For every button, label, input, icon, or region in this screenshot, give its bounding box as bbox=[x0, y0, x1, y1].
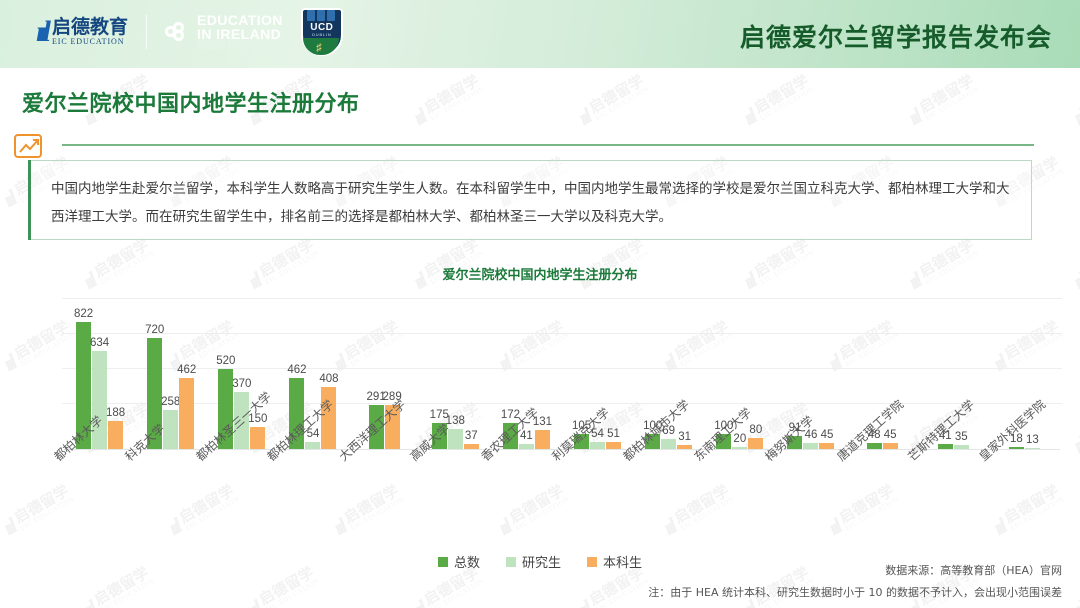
bar: 462 bbox=[179, 378, 194, 450]
bar: 634 bbox=[92, 351, 107, 450]
x-axis-label-cell: 大西洋理工大学 bbox=[335, 452, 405, 470]
legend-item[interactable]: 研究生 bbox=[506, 552, 561, 571]
header-title: 启德爱尔兰留学报告发布会 bbox=[740, 18, 1052, 54]
bar-value-label: 408 bbox=[319, 373, 338, 385]
bar-value-label: 634 bbox=[90, 337, 109, 349]
bar-value-label: 80 bbox=[749, 424, 762, 436]
bar: 188 bbox=[108, 421, 123, 450]
eic-logo-mark-icon: ııl bbox=[36, 15, 46, 49]
title-divider bbox=[62, 144, 1034, 146]
page-title: 爱尔兰院校中国内地学生注册分布 bbox=[22, 86, 360, 118]
x-axis-label-cell: 皇家外科医学院 bbox=[975, 452, 1045, 470]
bar-groups: 8226341887202584625203701504625440829128… bbox=[64, 302, 1060, 450]
watermark: ııl启德留学EIC EDUCATION bbox=[904, 71, 982, 131]
bar: 150 bbox=[250, 427, 265, 450]
legend-label: 研究生 bbox=[522, 552, 561, 571]
legend-item[interactable]: 本科生 bbox=[587, 552, 642, 571]
legend-item[interactable]: 总数 bbox=[438, 552, 480, 571]
bar-value-label: 520 bbox=[216, 355, 235, 367]
watermark: ııl启德留学EIC EDUCATION bbox=[739, 71, 817, 131]
bar-value-label: 45 bbox=[884, 429, 897, 441]
x-axis-label-cell: 芒斯特理工大学 bbox=[904, 452, 974, 470]
eic-logo-en: EIC EDUCATION bbox=[52, 38, 128, 46]
ei-logo-line4: WARMEST OF WELCOMES bbox=[197, 46, 283, 51]
legend-swatch-icon bbox=[587, 557, 597, 567]
bar-value-label: 51 bbox=[607, 428, 620, 440]
bar-value-label: 31 bbox=[678, 431, 691, 443]
eic-logo-cn: 启德教育 bbox=[52, 18, 128, 38]
bar-group: 17513837 bbox=[420, 302, 491, 450]
ei-logo-line2: IN IRELAND bbox=[197, 27, 283, 41]
header-logo-group: ııl 启德教育 EIC EDUCATION EDUCATION IN IREL… bbox=[36, 8, 343, 56]
footnote-text: 注：由于 HEA 统计本科、研究生数据时小于 10 的数据不予计入，会出现小范围… bbox=[648, 584, 1062, 600]
ucd-dublin-logo: UCD DUBLIN ♯ bbox=[301, 8, 343, 56]
bar-value-label: 20 bbox=[733, 433, 746, 445]
chart-plot-area: 8226341887202584625203701504625440829128… bbox=[18, 290, 1062, 450]
x-axis-label-cell: 都柏林城市大学 bbox=[619, 452, 689, 470]
bar-value-label: 720 bbox=[145, 324, 164, 336]
logo-divider bbox=[146, 15, 147, 49]
ucd-sub: DUBLIN bbox=[301, 32, 343, 37]
x-axis-label-cell: 唐道克理工学院 bbox=[833, 452, 903, 470]
bar-value-label: 462 bbox=[287, 364, 306, 376]
ucd-crest-blocks-icon bbox=[304, 10, 338, 21]
page-header: ııl 启德教育 EIC EDUCATION EDUCATION IN IREL… bbox=[0, 0, 1080, 68]
bar-value-label: 45 bbox=[821, 429, 834, 441]
data-source-text: 数据来源：高等教育部（HEA）官网 bbox=[885, 562, 1062, 578]
bar-value-label: 138 bbox=[446, 415, 465, 427]
shamrock-circles-icon bbox=[165, 22, 191, 42]
x-axis-labels: 都柏林大学科克大学都柏林圣三一大学都柏林理工大学大西洋理工大学高威大学香农理工大… bbox=[46, 452, 1042, 547]
watermark: ııl启德留学EIC EDUCATION bbox=[574, 71, 652, 131]
summary-box: 中国内地学生赴爱尔兰留学，本科学生人数略高于研究生学生人数。在本科留学生中，中国… bbox=[28, 160, 1032, 240]
bar-value-label: 37 bbox=[465, 430, 478, 442]
legend-swatch-icon bbox=[438, 557, 448, 567]
bar: 131 bbox=[535, 430, 550, 450]
x-axis-label-cell: 梅努斯大学 bbox=[761, 452, 831, 470]
x-axis-label-cell: 科克大学 bbox=[121, 452, 191, 470]
legend-label: 总数 bbox=[454, 552, 480, 571]
watermark: ııl启德留学EIC EDUCATION bbox=[1069, 399, 1080, 459]
education-in-ireland-logo: EDUCATION IN IRELAND WORLD-CLASS STANDAR… bbox=[165, 13, 283, 52]
x-axis-label-cell: 都柏林圣三一大学 bbox=[192, 452, 262, 470]
bar-value-label: 13 bbox=[1026, 434, 1039, 446]
bar-value-label: 35 bbox=[955, 431, 968, 443]
eic-education-logo: ııl 启德教育 EIC EDUCATION bbox=[36, 15, 128, 49]
gridline bbox=[62, 298, 1062, 299]
harp-icon: ♯ bbox=[301, 43, 337, 54]
legend-swatch-icon bbox=[506, 557, 516, 567]
bar-value-label: 462 bbox=[177, 364, 196, 376]
chart-title: 爱尔兰院校中国内地学生注册分布 bbox=[0, 264, 1080, 283]
x-axis-label-cell: 东南理工大学 bbox=[690, 452, 760, 470]
x-axis-label-cell: 香农理工大学 bbox=[477, 452, 547, 470]
x-axis-label-cell: 利莫瑞克大学 bbox=[548, 452, 618, 470]
x-axis-label-cell: 高威大学 bbox=[406, 452, 476, 470]
x-axis-label-cell: 都柏林理工大学 bbox=[263, 452, 333, 470]
bar-value-label: 258 bbox=[161, 396, 180, 408]
bar-value-label: 822 bbox=[74, 308, 93, 320]
ei-logo-line1: EDUCATION bbox=[197, 13, 283, 27]
bar-value-label: 370 bbox=[232, 378, 251, 390]
summary-text: 中国内地学生赴爱尔兰留学，本科学生人数略高于研究生学生人数。在本科留学生中，中国… bbox=[51, 175, 1016, 231]
bar-value-label: 188 bbox=[106, 407, 125, 419]
watermark: ııl启德留学EIC EDUCATION bbox=[1069, 71, 1080, 131]
x-axis-label-cell: 都柏林大学 bbox=[50, 452, 120, 470]
watermark: ııl启德留学EIC EDUCATION bbox=[409, 71, 487, 131]
legend-label: 本科生 bbox=[603, 552, 642, 571]
chart-note-icon bbox=[14, 132, 48, 160]
